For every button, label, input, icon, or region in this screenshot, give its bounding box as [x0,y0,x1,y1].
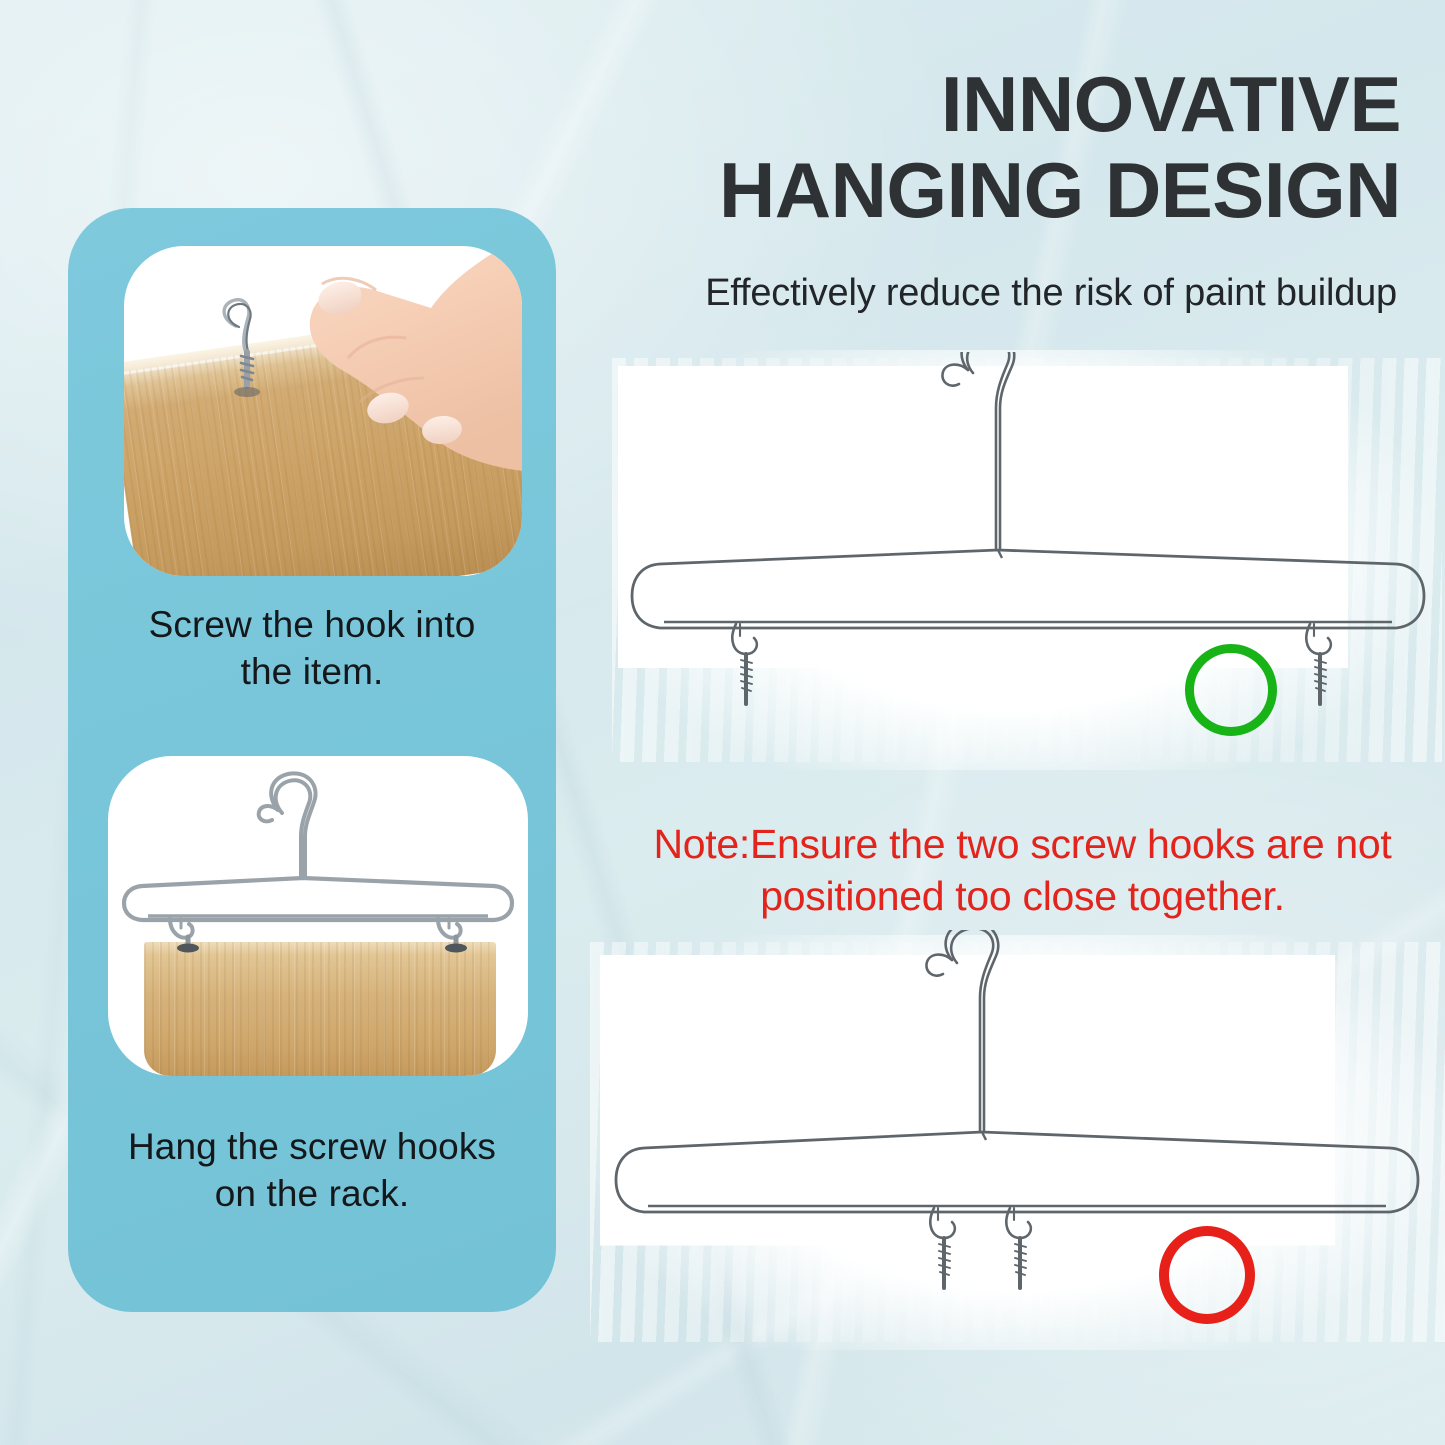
incorrect-indicator-circle [1159,1226,1255,1324]
page-subtitle: Effectively reduce the risk of paint bui… [567,272,1397,315]
step-1-caption-line2: the item. [241,651,384,692]
step-2-caption-line1: Hang the screw hooks [128,1126,496,1167]
step-1-caption: Screw the hook into the item. [68,601,556,696]
hanger-diagram-correct [616,352,1440,752]
correct-indicator-circle [1185,644,1277,736]
title-line-2: HANGING DESIGN [571,148,1401,234]
title-line-1: INNOVATIVE [941,60,1401,148]
step-2-caption: Hang the screw hooks on the rack. [68,1123,556,1218]
infographic-page: Screw the hook into the item. [0,0,1445,1445]
hanger-with-block-illustration [108,756,528,1076]
step-1-caption-line1: Screw the hook into [149,604,476,645]
hanger-diagram-incorrect [600,930,1445,1340]
step-2-photo [108,756,528,1076]
warning-note: Note:Ensure the two screw hooks are not … [600,818,1445,923]
hand-illustration [256,246,522,488]
page-title: INNOVATIVE HANGING DESIGN [571,62,1401,234]
note-line-2: positioned too close together. [760,873,1284,919]
steps-panel: Screw the hook into the item. [68,208,556,1312]
step-2-caption-line2: on the rack. [215,1173,410,1214]
step-1-photo [124,246,522,576]
note-line-1: Note:Ensure the two screw hooks are not [653,821,1391,867]
